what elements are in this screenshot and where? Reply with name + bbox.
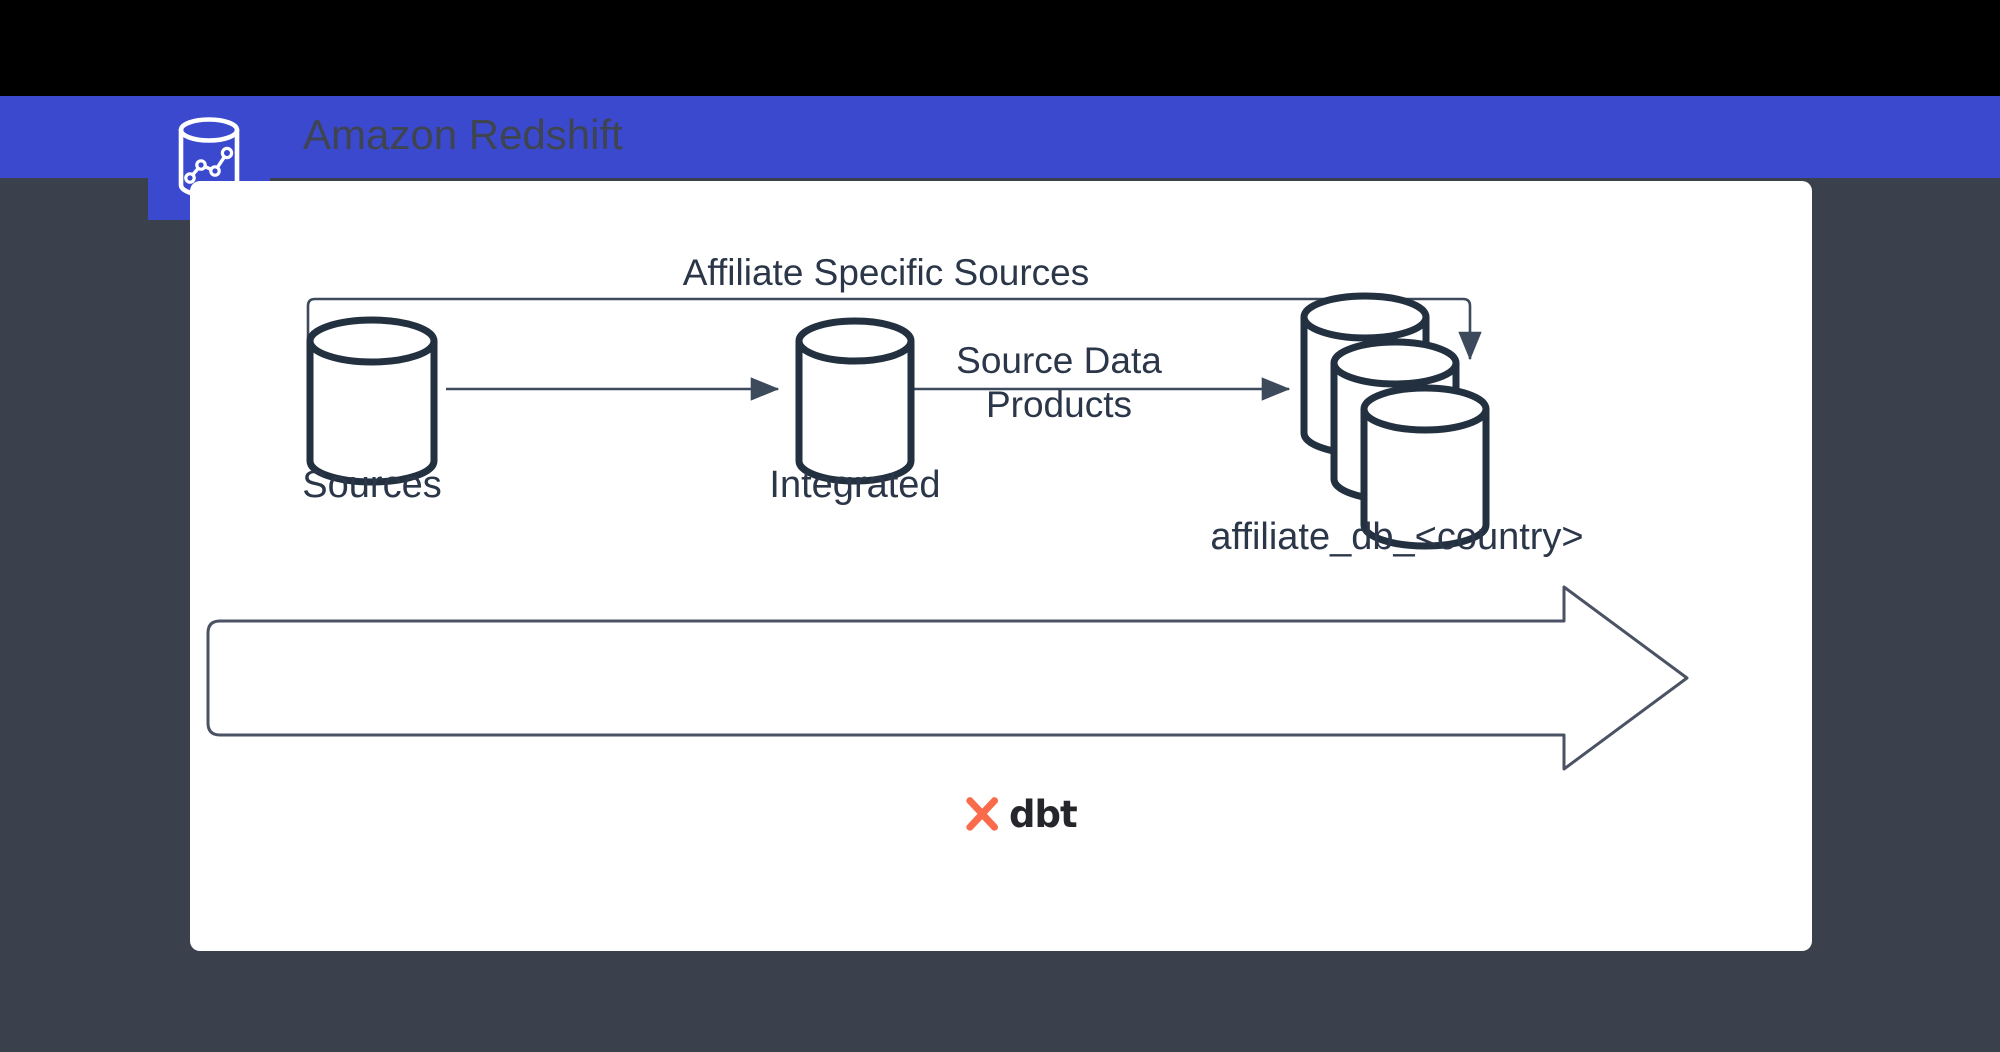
node-sources[interactable]: [310, 320, 434, 482]
dbt-mark-icon: [962, 794, 1002, 834]
dbt-label: dbt: [1009, 796, 1077, 833]
page-title: Amazon Redshift: [303, 98, 623, 172]
edge-label-source-data-line1: Source Data: [956, 340, 1162, 381]
dbt-logo: dbt: [962, 794, 1077, 834]
diagram-panel: Affiliate Specific Sources Source Data P…: [190, 181, 1812, 951]
node-label-affiliate-db: affiliate_db_<country>: [1210, 516, 1583, 558]
node-label-integrated: Integrated: [769, 464, 940, 506]
edge-label-affiliate-specific-sources: Affiliate Specific Sources: [683, 252, 1090, 293]
header-bar: [0, 96, 2000, 178]
screenshot-root: Amazon Redshift Affiliate Specific Sourc…: [0, 0, 2000, 1052]
node-integrated[interactable]: [799, 321, 911, 481]
edge-label-source-data-line2: Products: [986, 384, 1132, 425]
node-label-sources: Sources: [302, 464, 441, 506]
diagram-canvas: Affiliate Specific Sources Source Data P…: [190, 181, 1812, 951]
node-affiliate-db-stack[interactable]: [1304, 296, 1486, 546]
process-arrow-dbt[interactable]: [208, 587, 1687, 769]
